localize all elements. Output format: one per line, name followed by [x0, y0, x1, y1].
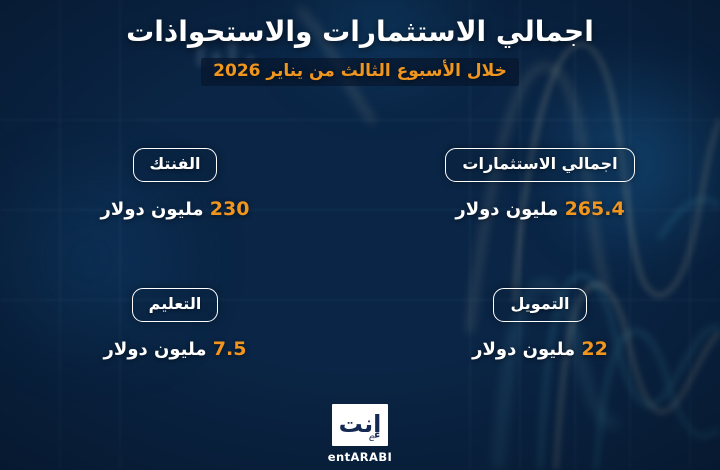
logo-mark-box: إنت e: [332, 404, 388, 446]
stat-value-financing: 22 مليون دولار: [390, 338, 690, 361]
stat-label-investments: اجمالي الاستثمارات: [445, 148, 634, 182]
stat-card-financing: التمويل 22 مليون دولار: [390, 288, 690, 360]
logo-wordmark: entARABI: [325, 450, 395, 464]
stat-unit-financing: مليون دولار: [472, 339, 575, 360]
stat-unit-education: مليون دولار: [104, 339, 207, 360]
subtitle-band: خلال الأسبوع الثالث من يناير 2026: [201, 58, 519, 86]
logo-e-glyph-icon: e: [369, 434, 375, 444]
stat-label-education: التعليم: [132, 288, 219, 322]
stat-label-financing: التمويل: [493, 288, 586, 322]
stats-grid: اجمالي الاستثمارات 265.4 مليون دولار الف…: [0, 140, 720, 390]
stat-number-education: 7.5: [213, 338, 247, 360]
stat-number-investments: 265.4: [565, 198, 625, 220]
stat-value-education: 7.5 مليون دولار: [25, 338, 325, 361]
stat-card-education: التعليم 7.5 مليون دولار: [25, 288, 325, 360]
stat-value-investments: 265.4 مليون دولار: [390, 198, 690, 221]
stat-number-fintech: 230: [210, 198, 250, 220]
stat-unit-investments: مليون دولار: [455, 199, 558, 220]
stat-card-fintech: الفنتك 230 مليون دولار: [25, 148, 325, 220]
infographic-canvas: اجمالي الاستثمارات والاستحواذات خلال الأ…: [0, 0, 720, 470]
stat-unit-fintech: مليون دولار: [101, 199, 204, 220]
brand-logo: إنت e entARABI: [325, 404, 395, 464]
stat-card-investments: اجمالي الاستثمارات 265.4 مليون دولار: [390, 148, 690, 220]
header: اجمالي الاستثمارات والاستحواذات خلال الأ…: [0, 8, 720, 86]
page-title: اجمالي الاستثمارات والاستحواذات: [0, 8, 720, 49]
page-subtitle: خلال الأسبوع الثالث من يناير 2026: [213, 61, 507, 81]
stat-value-fintech: 230 مليون دولار: [25, 198, 325, 221]
stat-number-financing: 22: [581, 338, 607, 360]
stat-label-fintech: الفنتك: [133, 148, 218, 182]
